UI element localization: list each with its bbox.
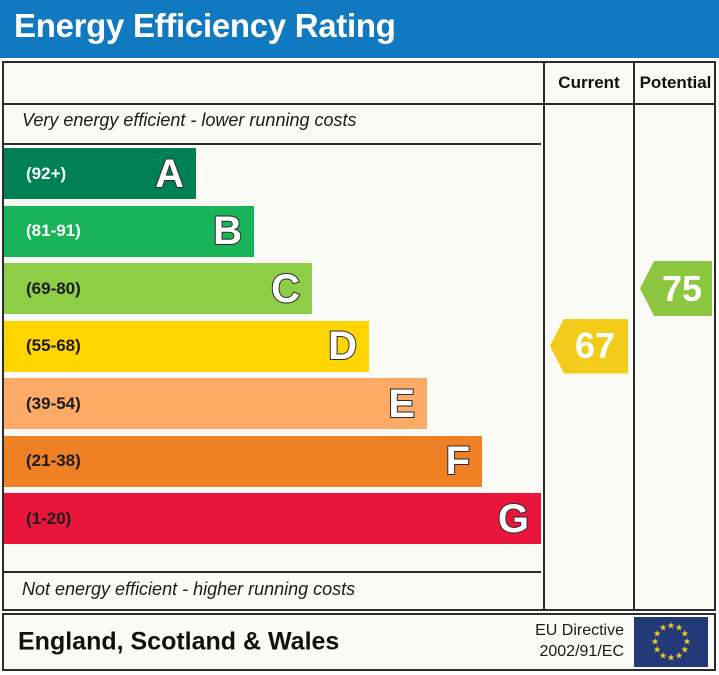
header-row-divider (4, 103, 714, 105)
column-header-potential: Potential (635, 63, 716, 103)
eu-flag-icon: ★★★★★★★★★★★★ (634, 617, 708, 667)
rating-band-b: (81-91)B (4, 206, 254, 257)
eu-star-icon: ★ (653, 646, 662, 655)
band-letter-a: A (155, 154, 184, 194)
eu-star-icon: ★ (651, 638, 660, 647)
band-range-f: (21-38) (26, 451, 81, 471)
footer-directive: EU Directive 2002/91/EC (535, 621, 624, 663)
rating-table: Current Potential Very energy efficient … (2, 61, 716, 611)
potential-rating-value: 75 (650, 271, 702, 307)
rating-band-g: (1-20)G (4, 493, 541, 544)
band-range-a: (92+) (26, 164, 66, 184)
page-title: Energy Efficiency Rating (14, 7, 396, 45)
rating-band-e: (39-54)E (4, 378, 427, 429)
band-range-e: (39-54) (26, 394, 81, 414)
rating-bands: (92+)A(81-91)B(69-80)C(55-68)D(39-54)E(2… (4, 145, 541, 571)
band-letter-d: D (328, 326, 357, 366)
band-letter-e: E (388, 384, 415, 424)
column-divider-potential (633, 63, 635, 609)
band-range-b: (81-91) (26, 221, 81, 241)
band-range-d: (55-68) (26, 336, 81, 356)
current-rating-marker: 67 (550, 319, 628, 374)
rating-band-d: (55-68)D (4, 321, 369, 372)
eu-star-icon: ★ (659, 624, 668, 633)
column-divider-current (543, 63, 545, 609)
rating-band-f: (21-38)F (4, 436, 482, 487)
current-rating-value: 67 (563, 328, 615, 364)
rating-band-c: (69-80)C (4, 263, 312, 314)
caption-efficient: Very energy efficient - lower running co… (22, 110, 357, 131)
band-letter-g: G (498, 499, 529, 539)
chart-footer: England, Scotland & Wales EU Directive 2… (2, 613, 716, 671)
directive-line-2: 2002/91/EC (535, 642, 624, 663)
band-letter-b: B (213, 211, 242, 251)
column-header-current: Current (545, 63, 633, 103)
band-letter-f: F (446, 441, 470, 481)
band-letter-c: C (271, 269, 300, 309)
caption-inefficient: Not energy efficient - higher running co… (22, 579, 355, 600)
eu-star-icon: ★ (675, 651, 684, 660)
potential-rating-marker: 75 (640, 261, 712, 316)
footer-region-label: England, Scotland & Wales (18, 628, 339, 657)
caption-bottom-divider (4, 571, 541, 573)
eu-star-icon: ★ (667, 654, 676, 663)
energy-efficiency-rating-chart: Energy Efficiency Rating Current Potenti… (0, 0, 719, 675)
rating-band-a: (92+)A (4, 148, 196, 199)
band-range-c: (69-80) (26, 279, 81, 299)
directive-line-1: EU Directive (535, 621, 624, 642)
chart-title-band: Energy Efficiency Rating (0, 0, 719, 58)
band-range-g: (1-20) (26, 509, 71, 529)
